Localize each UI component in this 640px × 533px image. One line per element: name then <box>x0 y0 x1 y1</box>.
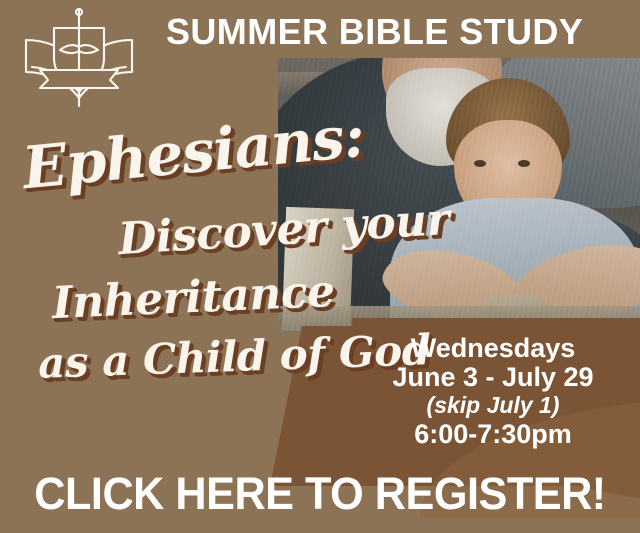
church-bible-logo <box>14 6 144 111</box>
schedule-day: Wednesdays <box>360 334 626 363</box>
schedule-block: Wednesdays June 3 - July 29 (skip July 1… <box>360 334 626 449</box>
schedule-time: 6:00-7:30pm <box>360 420 626 449</box>
summer-bible-study-poster: SUMMER BIBLE STUDY Ephesians: Discover y… <box>0 0 640 533</box>
page-title: SUMMER BIBLE STUDY <box>166 11 583 53</box>
register-cta-button[interactable]: CLICK HERE TO REGISTER! <box>13 468 627 520</box>
schedule-dates: June 3 - July 29 <box>360 363 626 392</box>
schedule-exception: (skip July 1) <box>360 392 626 420</box>
